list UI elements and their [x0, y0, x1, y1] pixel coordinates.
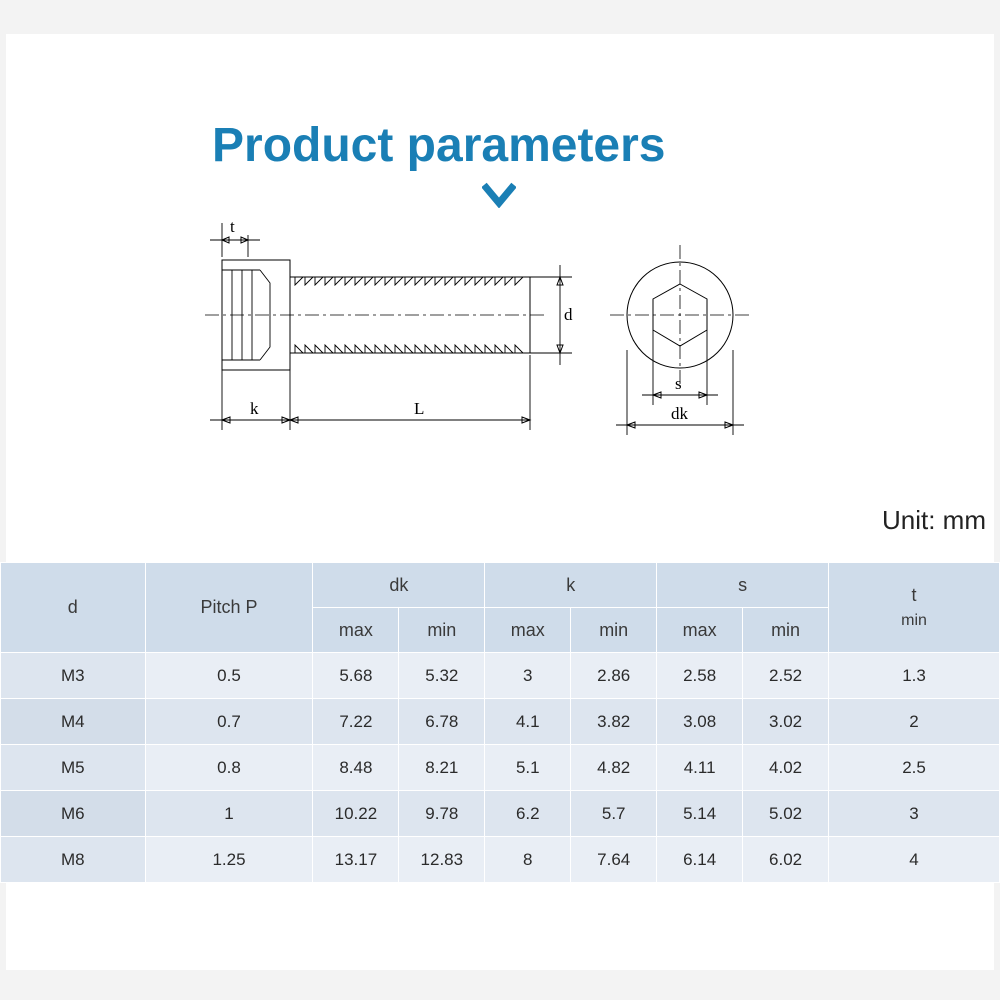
cell-t-min: 2: [829, 699, 1000, 745]
header-s: s: [657, 563, 829, 608]
screw-top-view-diagram: s dk: [580, 215, 800, 455]
header-t: t min: [829, 563, 1000, 653]
header-dk-min: min: [399, 608, 485, 653]
unit-note: Unit: mm: [882, 505, 986, 536]
cell-s-min: 4.02: [743, 745, 829, 791]
table-body: M3 0.5 5.68 5.32 3 2.86 2.58 2.52 1.3 M4…: [1, 653, 1000, 883]
chevron-down-icon: [482, 182, 516, 208]
svg-text:s: s: [675, 374, 682, 393]
cell-k-max: 6.2: [485, 791, 571, 837]
header-k-min: min: [571, 608, 657, 653]
table-row: M8 1.25 13.17 12.83 8 7.64 6.14 6.02 4: [1, 837, 1000, 883]
cell-pitch: 0.7: [145, 699, 313, 745]
cell-k-max: 4.1: [485, 699, 571, 745]
cell-s-min: 5.02: [743, 791, 829, 837]
cell-s-max: 4.11: [657, 745, 743, 791]
svg-text:k: k: [250, 399, 259, 418]
product-parameters-page: Product parameters t: [0, 0, 1000, 1000]
cell-k-min: 4.82: [571, 745, 657, 791]
cell-pitch: 1.25: [145, 837, 313, 883]
cell-dk-max: 13.17: [313, 837, 399, 883]
cell-k-min: 7.64: [571, 837, 657, 883]
header-k: k: [485, 563, 657, 608]
cell-dk-max: 8.48: [313, 745, 399, 791]
svg-text:t: t: [230, 217, 235, 236]
cell-t-min: 1.3: [829, 653, 1000, 699]
table-header-row-1: d Pitch P dk k s t min: [1, 563, 1000, 608]
cell-k-min: 2.86: [571, 653, 657, 699]
cell-d: M4: [1, 699, 146, 745]
header-dk: dk: [313, 563, 485, 608]
cell-pitch: 0.8: [145, 745, 313, 791]
cell-d: M8: [1, 837, 146, 883]
header-dk-max: max: [313, 608, 399, 653]
header-pitch: Pitch P: [145, 563, 313, 653]
cell-dk-min: 8.21: [399, 745, 485, 791]
table-row: M5 0.8 8.48 8.21 5.1 4.82 4.11 4.02 2.5: [1, 745, 1000, 791]
page-bottom-border: [0, 970, 1000, 1000]
cell-k-min: 5.7: [571, 791, 657, 837]
parameters-table: d Pitch P dk k s t min max min max min m…: [0, 562, 1000, 883]
cell-d: M3: [1, 653, 146, 699]
cell-dk-max: 10.22: [313, 791, 399, 837]
cell-pitch: 1: [145, 791, 313, 837]
cell-s-max: 5.14: [657, 791, 743, 837]
cell-d: M5: [1, 745, 146, 791]
table-row: M4 0.7 7.22 6.78 4.1 3.82 3.08 3.02 2: [1, 699, 1000, 745]
cell-dk-max: 5.68: [313, 653, 399, 699]
cell-t-min: 3: [829, 791, 1000, 837]
cell-k-max: 3: [485, 653, 571, 699]
cell-s-min: 2.52: [743, 653, 829, 699]
page-title: Product parameters: [212, 118, 666, 173]
cell-s-max: 6.14: [657, 837, 743, 883]
svg-text:L: L: [414, 399, 424, 418]
table-row: M3 0.5 5.68 5.32 3 2.86 2.58 2.52 1.3: [1, 653, 1000, 699]
cell-s-max: 2.58: [657, 653, 743, 699]
header-s-min: min: [743, 608, 829, 653]
cell-k-min: 3.82: [571, 699, 657, 745]
header-t-label: t: [829, 585, 999, 606]
header-d: d: [1, 563, 146, 653]
cell-dk-min: 5.32: [399, 653, 485, 699]
table-row: M6 1 10.22 9.78 6.2 5.7 5.14 5.02 3: [1, 791, 1000, 837]
header-k-max: max: [485, 608, 571, 653]
table-head: d Pitch P dk k s t min max min max min m…: [1, 563, 1000, 653]
cell-pitch: 0.5: [145, 653, 313, 699]
cell-dk-min: 6.78: [399, 699, 485, 745]
cell-d: M6: [1, 791, 146, 837]
cell-k-max: 5.1: [485, 745, 571, 791]
cell-s-max: 3.08: [657, 699, 743, 745]
cell-dk-min: 9.78: [399, 791, 485, 837]
page-top-border: [0, 0, 1000, 34]
svg-text:d: d: [564, 305, 573, 324]
cell-dk-max: 7.22: [313, 699, 399, 745]
svg-text:dk: dk: [671, 404, 689, 423]
cell-s-min: 6.02: [743, 837, 829, 883]
header-t-sub: min: [829, 612, 999, 630]
cell-k-max: 8: [485, 837, 571, 883]
cell-s-min: 3.02: [743, 699, 829, 745]
header-s-max: max: [657, 608, 743, 653]
cell-t-min: 4: [829, 837, 1000, 883]
cell-dk-min: 12.83: [399, 837, 485, 883]
cell-t-min: 2.5: [829, 745, 1000, 791]
